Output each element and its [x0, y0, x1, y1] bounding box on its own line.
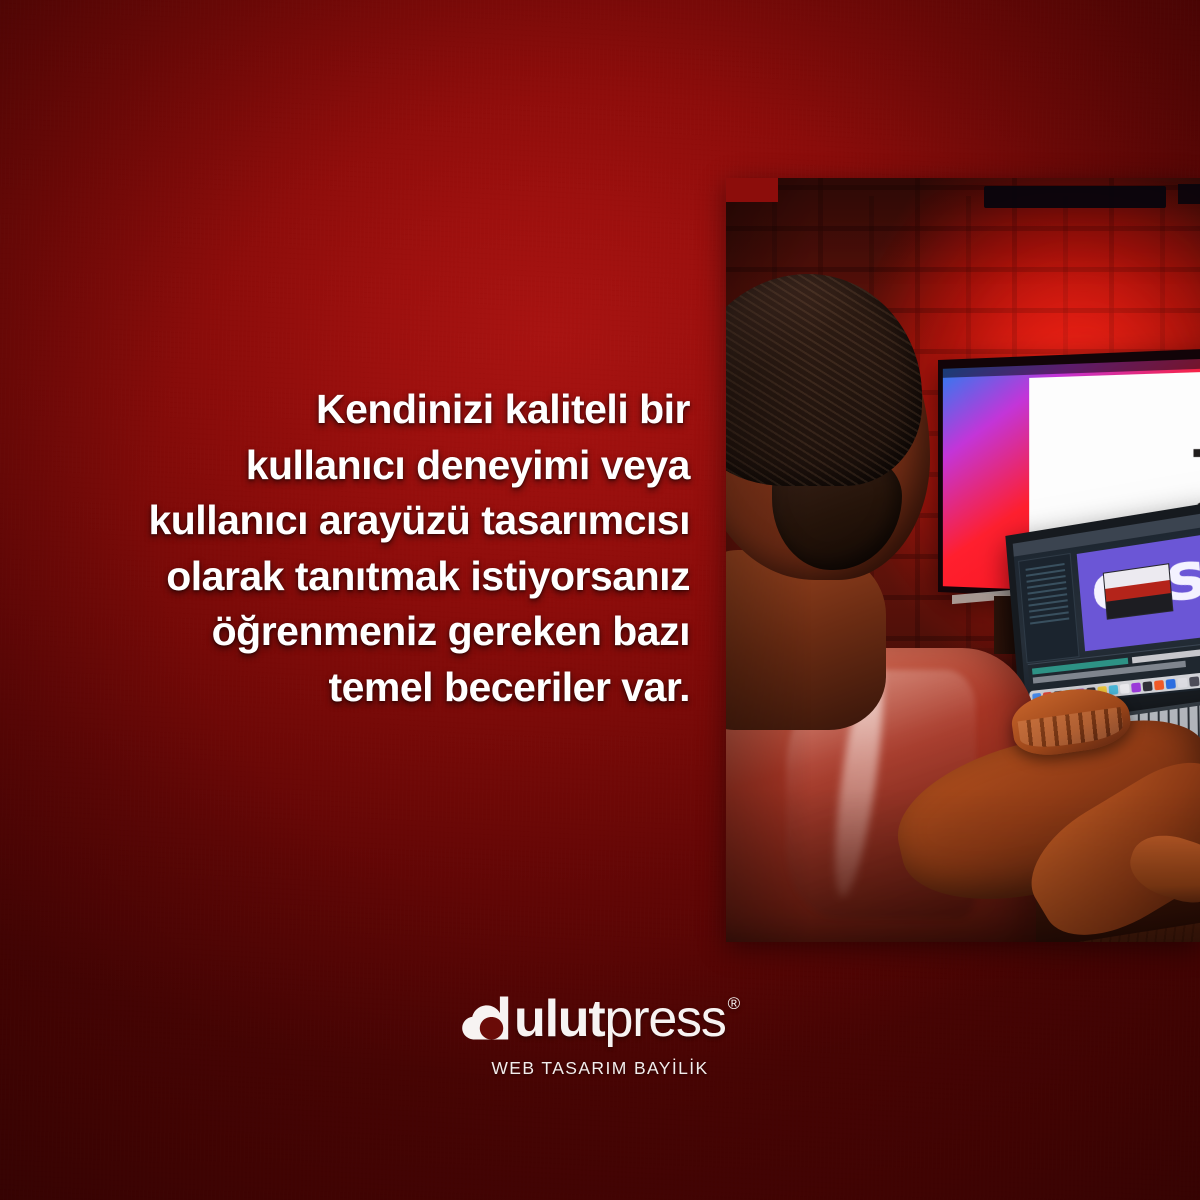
editor-canvas: ess [1077, 534, 1200, 651]
laptop-screen: ess [1013, 512, 1200, 708]
dock-icon [1120, 683, 1130, 693]
editor-canvas-image [1103, 563, 1174, 620]
wall-shelf-dark-2 [1178, 184, 1200, 204]
dock-icon [1142, 681, 1152, 691]
dock-icon [1177, 677, 1187, 687]
editor-left-panel [1018, 553, 1079, 663]
logo-text-press: press [605, 993, 726, 1045]
timeline-clip [1132, 649, 1200, 664]
registered-mark-icon: ® [728, 995, 739, 1012]
poster-canvas: Kendinizi kaliteli bir kullanıcı deneyim… [0, 0, 1200, 1200]
dock-icon [1131, 682, 1141, 692]
logo-wordmark: ulut press ® [461, 993, 739, 1045]
dock-icon [1189, 676, 1200, 687]
logo-subtitle: WEB TASARIM BAYİLİK [491, 1058, 708, 1079]
cloud-b-icon [461, 993, 513, 1045]
dock-icon [1154, 679, 1164, 689]
monitor-logo-glyph: 丆 [1189, 443, 1200, 513]
brand-logo: ulut press ® WEB TASARIM BAYİLİK [0, 993, 1200, 1079]
photo-corner-notch [726, 178, 778, 202]
hero-photo: 丆 ess [726, 178, 1200, 942]
dock-icon [1166, 678, 1176, 688]
wall-shelf-dark [984, 186, 1166, 208]
page-title: Kendinizi kaliteli bir kullanıcı deneyim… [40, 382, 690, 715]
logo-text-bulut: ulut [514, 993, 605, 1045]
